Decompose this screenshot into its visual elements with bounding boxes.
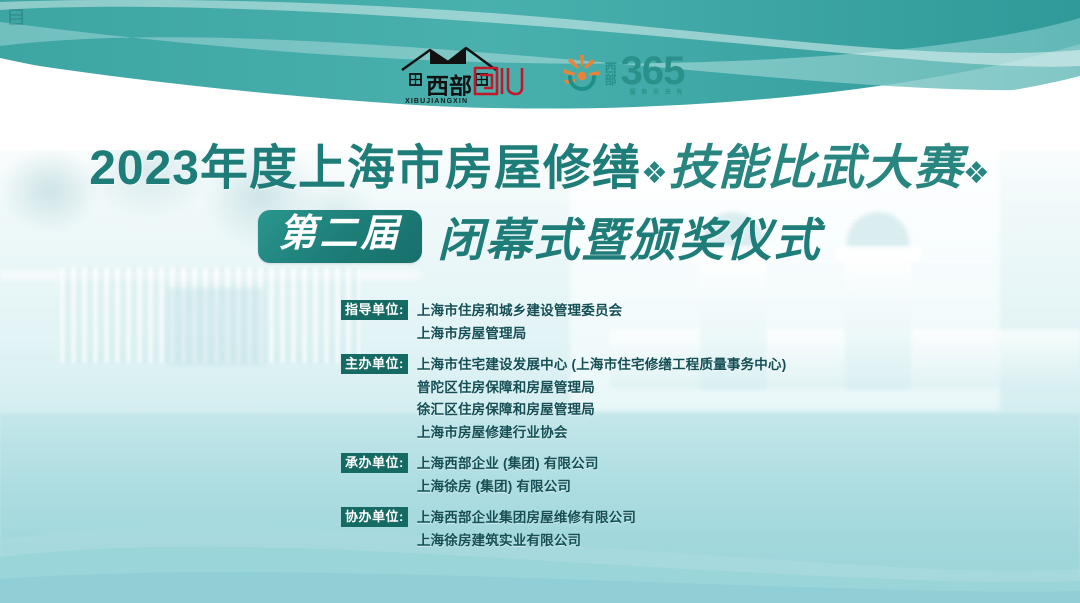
credit-values: 上海西部企业集团房屋维修有限公司 上海徐房建筑实业有限公司 bbox=[417, 507, 636, 551]
credit-value: 上海市房屋修建行业协会 bbox=[417, 423, 787, 444]
logo-pinyin: XIBUJIANGXIN bbox=[405, 98, 468, 105]
credit-value: 上海西部企业 (集团) 有限公司 bbox=[417, 454, 599, 475]
logo-xibu-vertical: 西 部 bbox=[605, 62, 617, 86]
title-script-text: 技能比武大赛 bbox=[669, 140, 963, 196]
credit-label: 协办单位: bbox=[341, 507, 408, 527]
credit-value: 普陀区住房保障和房屋管理局 bbox=[417, 378, 787, 399]
credit-value: 上海徐房 (集团) 有限公司 bbox=[417, 477, 599, 498]
logo-365-wrap: 365 服 务 天 天 有 bbox=[621, 53, 685, 97]
title-block: 2023年度上海市房屋修缮❖技能比武大赛❖ 第二届 闭幕式暨颁奖仪式 bbox=[0, 140, 1080, 270]
credit-block-host: 主办单位: 上海市住宅建设发展中心 (上海市住宅修缮工程质量事务中心) 普陀区住… bbox=[341, 354, 786, 443]
watermark-icon bbox=[9, 8, 23, 26]
title-line-2: 第二届 闭幕式暨颁奖仪式 bbox=[0, 204, 1080, 270]
house-icon: 西部 bbox=[396, 44, 524, 96]
logo-365-tagline: 服 务 天 天 有 bbox=[621, 87, 685, 96]
credit-block-coorganizer: 协办单位: 上海西部企业集团房屋维修有限公司 上海徐房建筑实业有限公司 bbox=[341, 507, 636, 551]
swirl-right-icon: ❖ bbox=[963, 156, 991, 191]
credit-value: 上海市住房和城乡建设管理委员会 bbox=[417, 301, 623, 322]
logo-365-number: 365 bbox=[621, 53, 685, 90]
credit-block-guidance: 指导单位: 上海市住房和城乡建设管理委员会 上海市房屋管理局 bbox=[341, 300, 622, 344]
credit-block-organizer: 承办单位: 上海西部企业 (集团) 有限公司 上海徐房 (集团) 有限公司 bbox=[341, 453, 599, 497]
logo-xibu-jiangxin: 西部 XIBUJIANGXIN bbox=[396, 44, 524, 105]
logo-xibu-char2: 部 bbox=[605, 74, 617, 86]
credit-value: 上海市住宅建设发展中心 (上海市住宅修缮工程质量事务中心) bbox=[417, 355, 787, 376]
credit-values: 上海市住房和城乡建设管理委员会 上海市房屋管理局 bbox=[417, 300, 623, 344]
svg-text:西部: 西部 bbox=[426, 73, 472, 96]
credits-list: 指导单位: 上海市住房和城乡建设管理委员会 上海市房屋管理局 主办单位: 上海市… bbox=[0, 300, 1080, 551]
credit-value: 上海徐房建筑实业有限公司 bbox=[417, 531, 636, 552]
credit-values: 上海市住宅建设发展中心 (上海市住宅修缮工程质量事务中心) 普陀区住房保障和房屋… bbox=[417, 354, 787, 443]
title-main-text: 2023年度上海市房屋修缮 bbox=[89, 142, 641, 195]
sun-icon bbox=[562, 53, 602, 95]
title-subtitle-text: 闭幕式暨颁奖仪式 bbox=[438, 204, 822, 270]
edition-badge: 第二届 bbox=[258, 210, 421, 263]
credit-label: 承办单位: bbox=[341, 453, 408, 473]
logo-left-mark: 西部 bbox=[396, 44, 524, 96]
event-poster: 西部 XIBUJIANGXIN bbox=[0, 0, 1080, 603]
credit-value: 上海西部企业集团房屋维修有限公司 bbox=[417, 508, 636, 529]
swirl-left-icon: ❖ bbox=[641, 156, 669, 191]
logo-xibu-365: 西 部 365 服 务 天 天 有 bbox=[562, 53, 685, 97]
logo-row: 西部 XIBUJIANGXIN bbox=[0, 44, 1080, 105]
credit-label: 主办单位: bbox=[341, 354, 408, 374]
credit-label: 指导单位: bbox=[341, 300, 408, 320]
credit-value: 徐汇区住房保障和房屋管理局 bbox=[417, 400, 787, 421]
credit-value: 上海市房屋管理局 bbox=[417, 324, 623, 345]
title-line-1: 2023年度上海市房屋修缮❖技能比武大赛❖ bbox=[0, 140, 1080, 198]
credit-values: 上海西部企业 (集团) 有限公司 上海徐房 (集团) 有限公司 bbox=[417, 453, 599, 497]
